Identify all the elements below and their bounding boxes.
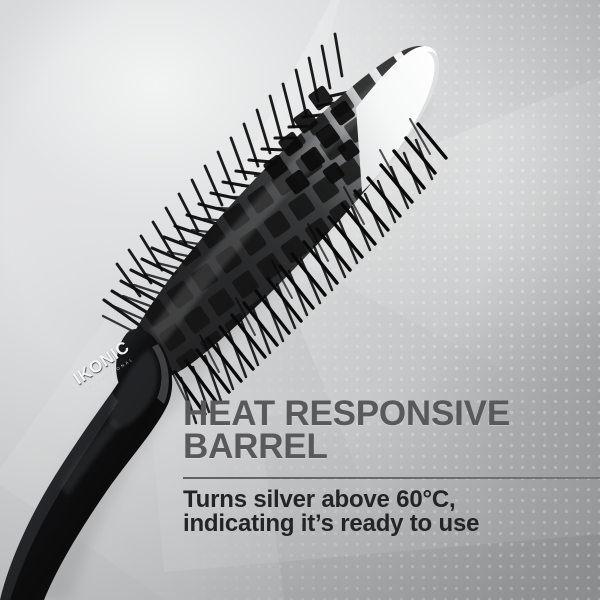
text-block: HEAT RESPONSIVE BARREL Turns silver abov…: [183, 398, 600, 537]
divider-rule: [183, 477, 600, 479]
subtitle-line-2: indicating it’s ready to use: [183, 512, 600, 536]
headline-line-2: BARREL: [183, 427, 328, 466]
product-feature-poster: IKONIC PROFESSIONAL HEAT RESPONSIVE BARR…: [0, 0, 600, 600]
headline: HEAT RESPONSIVE BARREL: [183, 398, 600, 464]
brush-handle: [0, 338, 172, 600]
subtitle-line-1: Turns silver above 60°C,: [183, 488, 600, 512]
subtitle: Turns silver above 60°C, indicating it’s…: [183, 488, 600, 537]
